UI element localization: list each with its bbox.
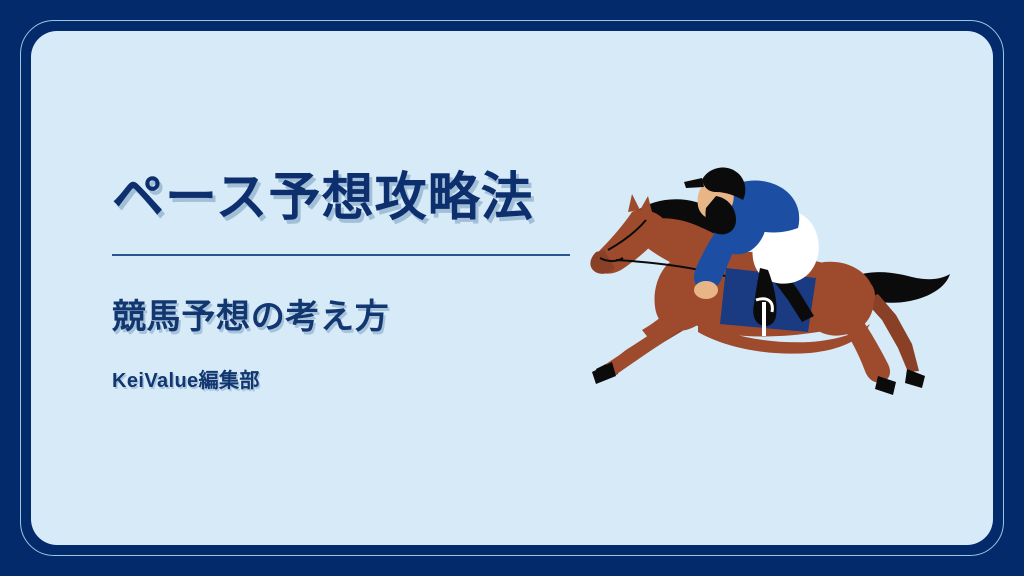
page-subtitle: 競馬予想の考え方 xyxy=(112,296,582,339)
horse-hoof-hind-rear xyxy=(905,369,925,388)
racehorse-jockey-svg xyxy=(578,150,978,420)
title-divider xyxy=(112,254,570,256)
racehorse-jockey-illustration xyxy=(578,150,978,420)
horse-foreleg-front xyxy=(606,310,694,376)
horse-ear-near xyxy=(628,194,640,212)
slide-canvas: ペース予想攻略法 競馬予想の考え方 KeiValue編集部 xyxy=(0,0,1024,576)
jockey-hand xyxy=(694,281,718,299)
jockey-helmet-visor xyxy=(684,178,704,188)
title-text-block: ペース予想攻略法 競馬予想の考え方 KeiValue編集部 xyxy=(112,168,582,393)
page-title: ペース予想攻略法 xyxy=(112,168,582,229)
horse-hoof-hind-front xyxy=(875,376,896,395)
author-byline: KeiValue編集部 xyxy=(112,369,582,393)
